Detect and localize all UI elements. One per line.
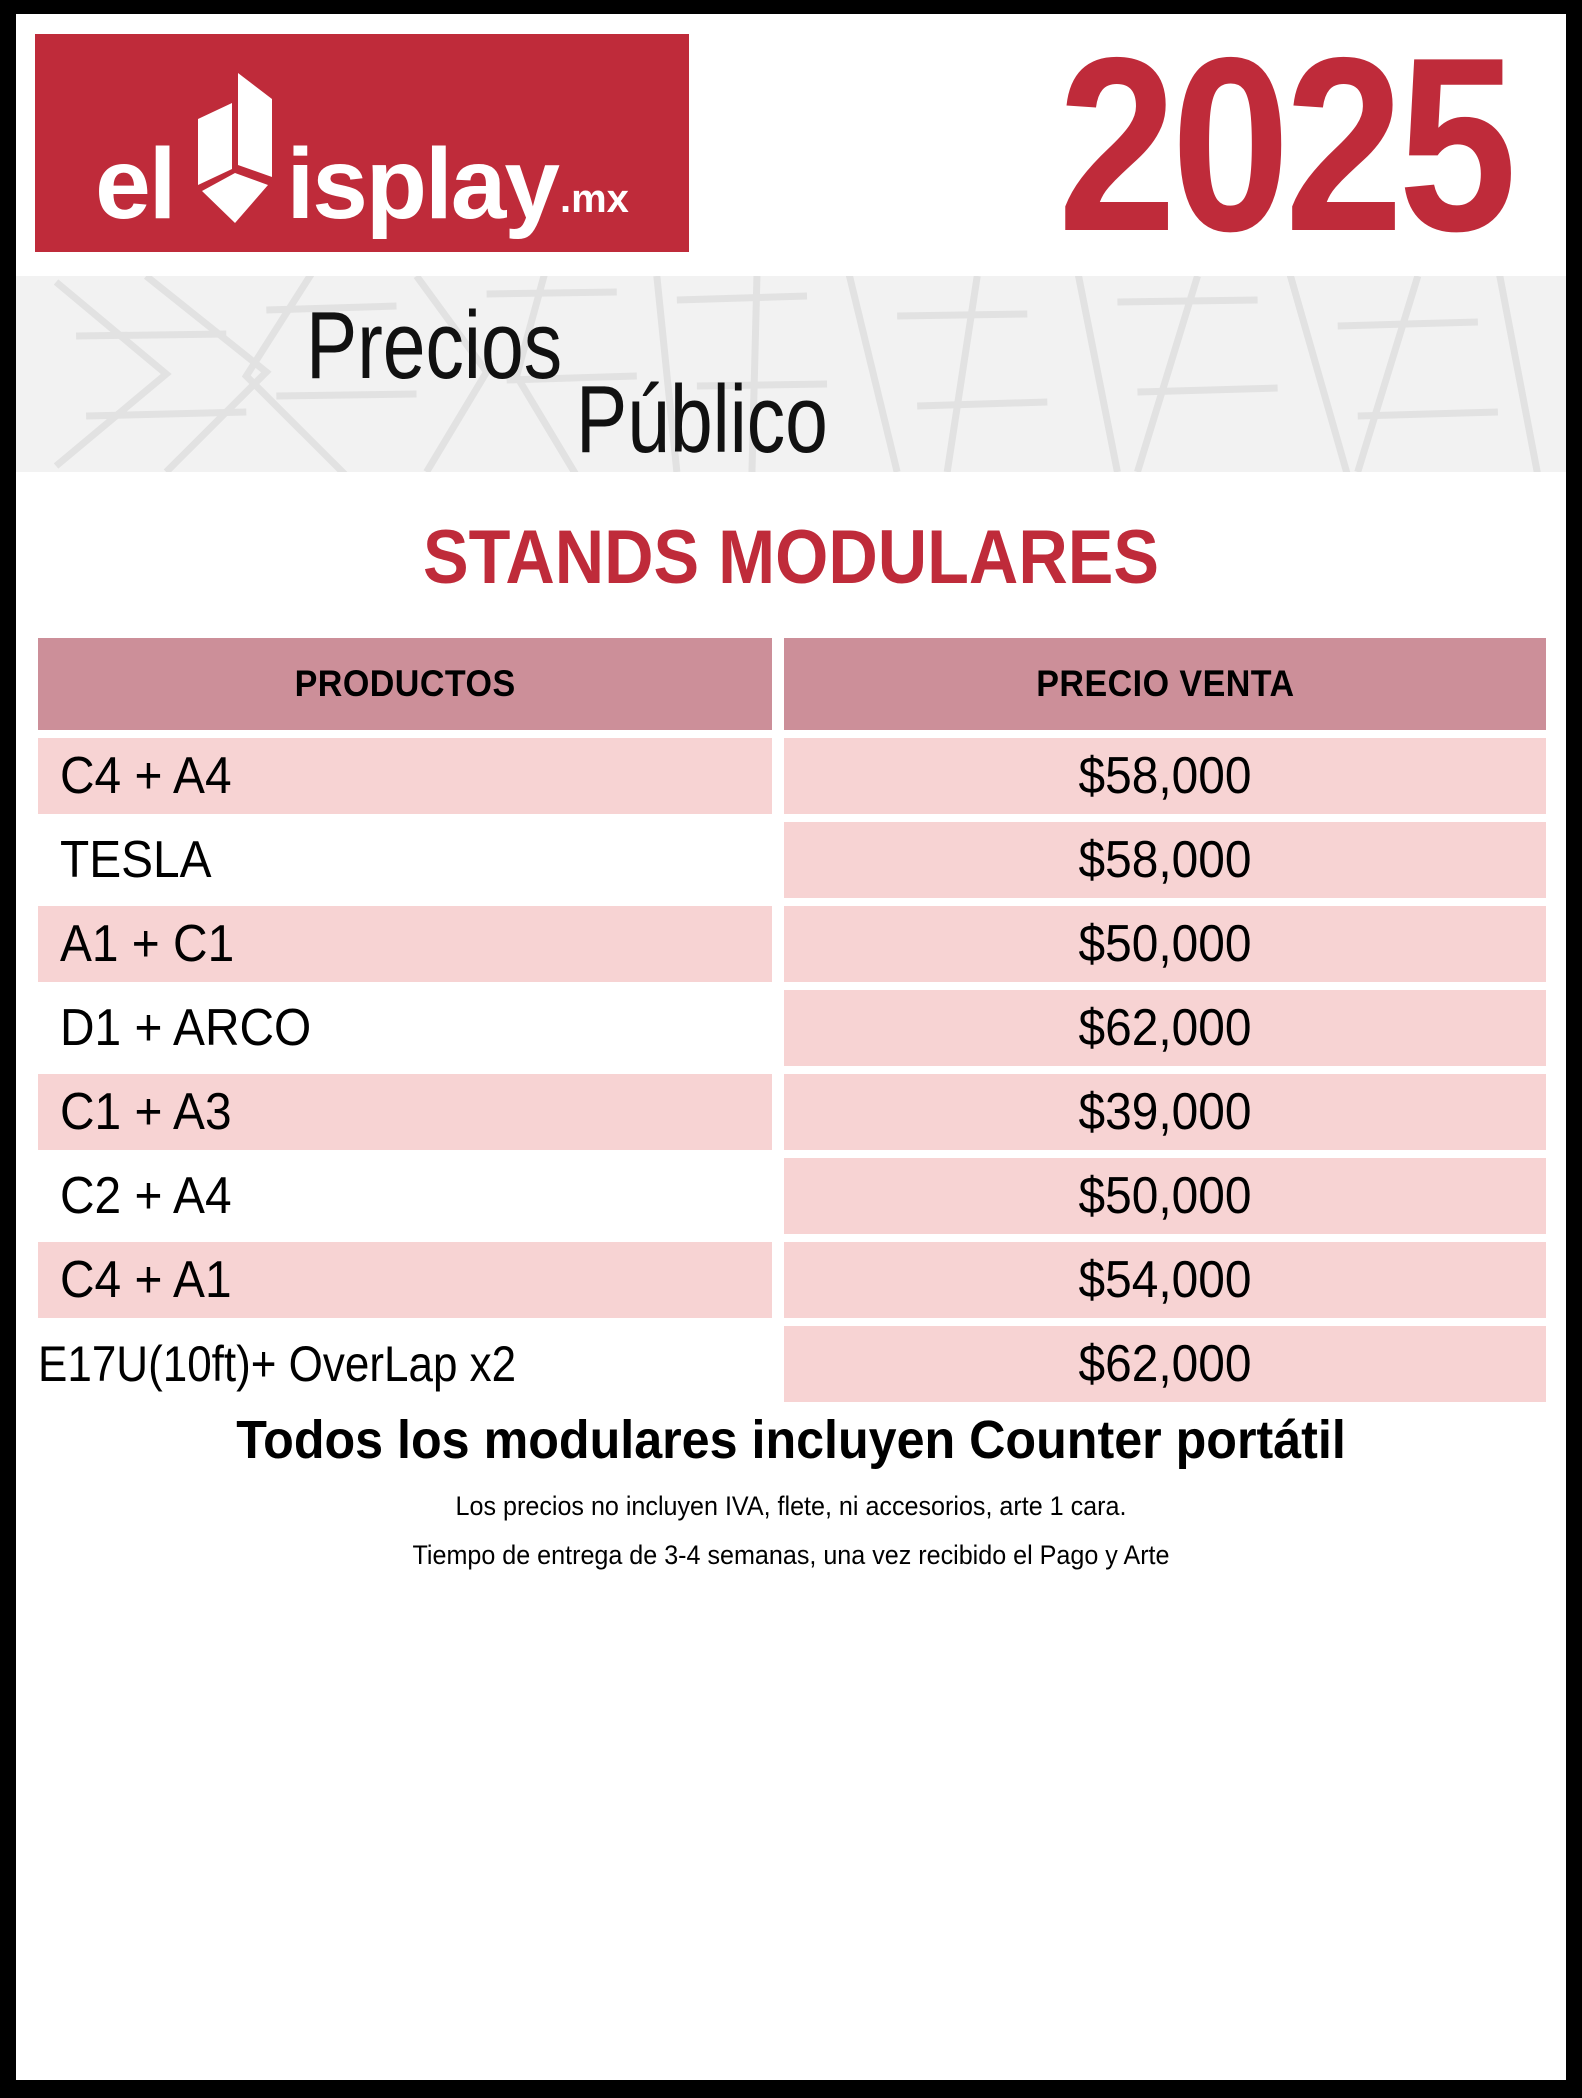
footer-headline: Todos los modulares incluyen Counter por…	[87, 1412, 1495, 1469]
logo-text-isplay: isplay	[286, 143, 558, 225]
footer-note-delivery: Tiempo de entrega de 3-4 semanas, una ve…	[87, 1542, 1495, 1569]
product-cell: D1 + ARCO	[38, 990, 772, 1066]
page-header: el isplay .mx 2025	[16, 14, 1566, 276]
product-name: A1 + C1	[60, 918, 234, 970]
price-cell: $54,000	[784, 1242, 1546, 1318]
product-cell: C4 + A4	[38, 738, 772, 814]
footer-note-pricing: Los precios no incluyen IVA, flete, ni a…	[87, 1493, 1495, 1520]
table-row: C4 + A1 $54,000	[38, 1242, 1546, 1318]
year-label: 2025	[1058, 20, 1512, 268]
banner-title-line-1: Precios	[306, 298, 562, 394]
product-name: E17U(10ft)+ OverLap x2	[38, 1339, 516, 1389]
title-banner: Precios Público	[16, 276, 1566, 472]
banner-title-line-2: Público	[576, 372, 828, 468]
price-value: $62,000	[1079, 1338, 1252, 1390]
price-value: $54,000	[1079, 1254, 1252, 1306]
price-value: $58,000	[1079, 750, 1252, 802]
page-frame: el isplay .mx 2025	[0, 0, 1582, 2098]
price-cell: $50,000	[784, 1158, 1546, 1234]
column-header-productos: PRODUCTOS	[38, 638, 772, 730]
price-cell: $58,000	[784, 822, 1546, 898]
table-row: TESLA $58,000	[38, 822, 1546, 898]
price-value: $39,000	[1079, 1086, 1252, 1138]
price-cell: $58,000	[784, 738, 1546, 814]
product-name: C4 + A1	[60, 1254, 232, 1306]
table-header-row: PRODUCTOS PRECIO VENTA	[38, 638, 1546, 730]
price-value: $58,000	[1079, 834, 1252, 886]
product-name: C1 + A3	[60, 1086, 232, 1138]
product-cell: E17U(10ft)+ OverLap x2	[38, 1326, 772, 1402]
logo-text-tld: .mx	[560, 179, 629, 219]
logo-text-el: el	[95, 143, 174, 225]
price-sheet: el isplay .mx 2025	[16, 14, 1566, 2080]
price-value: $50,000	[1079, 918, 1252, 970]
table-row: C4 + A4 $58,000	[38, 738, 1546, 814]
price-cell: $62,000	[784, 990, 1546, 1066]
product-name: TESLA	[60, 834, 212, 886]
price-table: PRODUCTOS PRECIO VENTA C4 + A4 $58,000 T…	[16, 638, 1566, 1402]
page-footer: Todos los modulares incluyen Counter por…	[16, 1410, 1566, 1569]
product-name: C4 + A4	[60, 750, 232, 802]
table-row: D1 + ARCO $62,000	[38, 990, 1546, 1066]
logo-wordmark: el isplay .mx	[95, 73, 629, 225]
brand-logo: el isplay .mx	[35, 34, 689, 252]
price-value: $62,000	[1079, 1002, 1252, 1054]
product-cell: C1 + A3	[38, 1074, 772, 1150]
product-cell: TESLA	[38, 822, 772, 898]
product-cell: C2 + A4	[38, 1158, 772, 1234]
price-cell: $62,000	[784, 1326, 1546, 1402]
price-value: $50,000	[1079, 1170, 1252, 1222]
product-name: C2 + A4	[60, 1170, 232, 1222]
table-row: A1 + C1 $50,000	[38, 906, 1546, 982]
section-title: STANDS MODULARES	[94, 520, 1489, 596]
column-header-precio-venta: PRECIO VENTA	[784, 638, 1546, 730]
price-cell: $39,000	[784, 1074, 1546, 1150]
product-cell: C4 + A1	[38, 1242, 772, 1318]
table-row: C1 + A3 $39,000	[38, 1074, 1546, 1150]
display-prism-icon	[180, 73, 284, 225]
product-cell: A1 + C1	[38, 906, 772, 982]
product-name: D1 + ARCO	[60, 1002, 311, 1054]
price-cell: $50,000	[784, 906, 1546, 982]
table-row: E17U(10ft)+ OverLap x2 $62,000	[38, 1326, 1546, 1402]
table-row: C2 + A4 $50,000	[38, 1158, 1546, 1234]
